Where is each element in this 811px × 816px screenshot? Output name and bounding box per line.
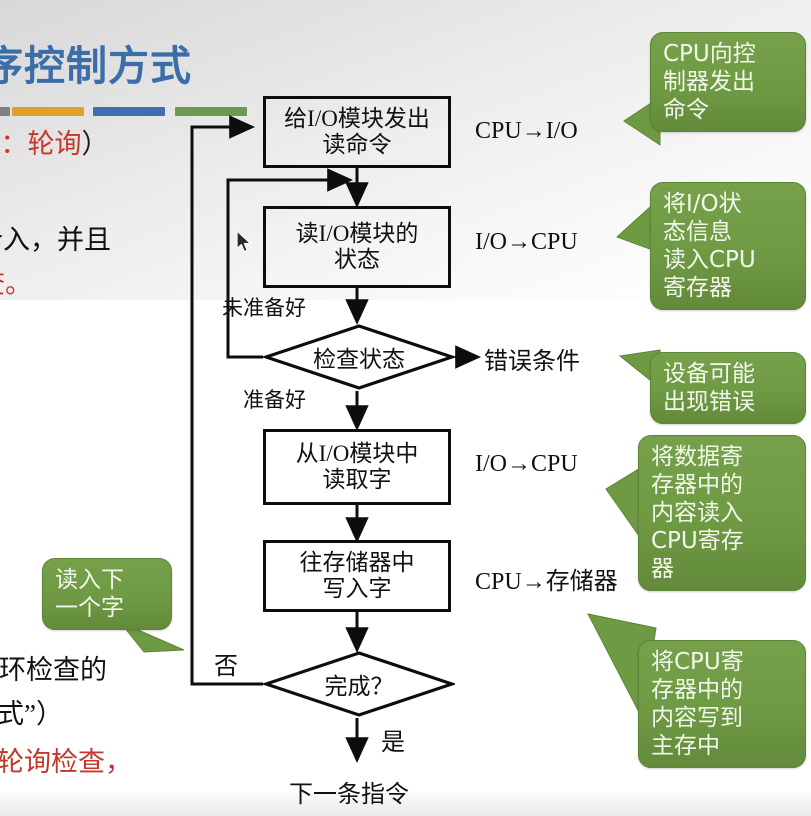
callout-read-io-status-to-register[interactable]: 将I/O状 态信息 读入CPU 寄存器 <box>650 182 806 310</box>
page-title: 序控制方式 <box>0 32 192 92</box>
accent-dash-gray <box>0 107 10 116</box>
callout-cpu-register-to-main-memory[interactable]: 将CPU寄 存器中的 内容写到 主存中 <box>638 640 806 768</box>
side-label-cpu-to-io: CPU→I/O <box>475 118 578 145</box>
body-line-3: 循环检查的 <box>0 648 107 687</box>
callout-line: 主存中 <box>651 732 795 760</box>
edge-label-not-ready: 未准备好 <box>222 292 306 322</box>
callout-line: CPU向控 <box>663 40 795 68</box>
callout-line: 设备可能 <box>663 360 795 388</box>
callout-line: 将CPU寄 <box>651 648 795 676</box>
callout-line: 内容写到 <box>651 704 795 732</box>
accent-dash-blue <box>93 107 165 116</box>
callout-line: 一个字 <box>55 594 161 622</box>
subtitle-suffix: ） <box>82 129 109 159</box>
side-label-cpu-to-memory: CPU→存储器 <box>475 561 618 596</box>
callout-line: 命令 <box>663 96 795 124</box>
callout-data-register-to-cpu[interactable]: 将数据寄 存器中的 内容读入 CPU寄存 器 <box>638 435 806 591</box>
slide-canvas: 序控制方式 rd：轮询） 介入，并且 查。 循环检查的 方式”） 直轮询检查， <box>0 0 811 816</box>
flow-node-line: 写入字 <box>323 576 392 602</box>
callout-cpu-sends-command[interactable]: CPU向控 制器发出 命令 <box>650 32 806 132</box>
flow-node-line: 读I/O模块的 <box>296 221 419 247</box>
edge-label-error-condition: 错误条件 <box>484 341 580 376</box>
side-label-io-to-cpu-data: I/O→CPU <box>475 451 578 478</box>
flow-node-line: 往存储器中 <box>300 550 415 576</box>
flow-node-line: 给I/O模块发出 <box>284 106 430 132</box>
body-line-2: 查。 <box>0 262 32 301</box>
callout-line: 将数据寄 <box>651 443 795 471</box>
subtitle-keyword: 轮询 <box>28 129 82 159</box>
accent-dash-green <box>175 107 247 116</box>
callout-line: 出现错误 <box>663 388 795 416</box>
flow-node-line: 状态 <box>334 247 380 273</box>
flow-node-line: 从I/O模块中 <box>296 441 419 467</box>
callout-line: 读入下 <box>55 566 161 594</box>
callout-line: 器 <box>651 555 795 583</box>
subtitle-prefix: rd： <box>0 129 28 159</box>
body-line-5: 直轮询检查， <box>0 740 132 779</box>
callout-line: 存器中的 <box>651 676 795 704</box>
flow-decision-done[interactable]: 完成？ <box>263 650 455 718</box>
callout-line: 存器中的 <box>651 471 795 499</box>
callout-line: 读入CPU <box>663 246 795 274</box>
flow-end-next-instruction: 下一条指令 <box>289 774 409 809</box>
flow-decision-label: 检查状态 <box>263 323 455 391</box>
body-line-1: 介入，并且 <box>0 218 111 257</box>
flow-node-read-word-from-io[interactable]: 从I/O模块中 读取字 <box>263 429 451 505</box>
edge-label-yes: 是 <box>381 722 405 757</box>
flow-node-read-io-status[interactable]: 读I/O模块的 状态 <box>263 206 451 288</box>
callout-line: CPU寄存 <box>651 527 795 555</box>
subtitle-line: rd：轮询） <box>0 122 109 161</box>
flow-node-line: 读取字 <box>323 467 392 493</box>
edge-label-no: 否 <box>214 646 238 681</box>
body-line-4: 方式”） <box>0 692 63 731</box>
accent-dash-orange <box>12 107 84 116</box>
edge-label-ready: 准备好 <box>243 384 306 414</box>
callout-line: 态信息 <box>663 218 795 246</box>
callout-read-next-word[interactable]: 读入下 一个字 <box>42 558 172 630</box>
flow-node-issue-read-command[interactable]: 给I/O模块发出 读命令 <box>263 96 451 168</box>
flow-node-line: 读命令 <box>323 132 392 158</box>
callout-line: 内容读入 <box>651 499 795 527</box>
flow-decision-label: 完成？ <box>263 650 455 718</box>
mouse-pointer-icon <box>236 230 253 254</box>
flow-decision-check-status[interactable]: 检查状态 <box>263 323 455 391</box>
flow-node-write-word-to-memory[interactable]: 往存储器中 写入字 <box>263 540 451 612</box>
side-label-io-to-cpu-status: I/O→CPU <box>475 229 578 256</box>
callout-line: 制器发出 <box>663 68 795 96</box>
callout-line: 将I/O状 <box>663 190 795 218</box>
callout-line: 寄存器 <box>663 274 795 302</box>
callout-device-may-error[interactable]: 设备可能 出现错误 <box>650 352 806 424</box>
